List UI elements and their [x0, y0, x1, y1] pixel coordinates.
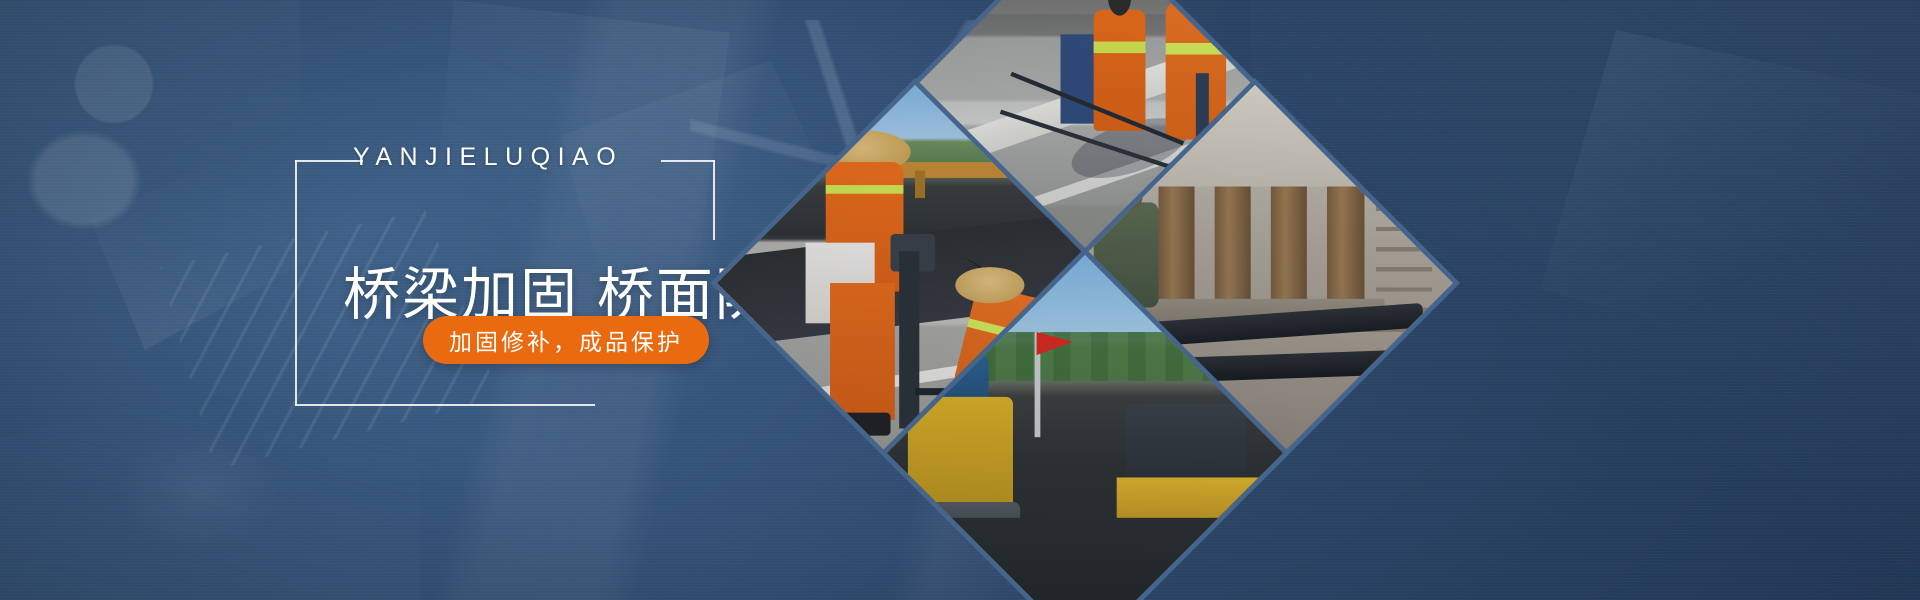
- brand-pinyin: YANJIELUQIAO: [353, 143, 623, 172]
- frame-right-border: [713, 160, 715, 240]
- frame-top-right-border: [661, 160, 715, 162]
- promo-banner: YANJIELUQIAO 桥梁加固 桥面防水 加固修补，成品保护: [0, 0, 1920, 600]
- cta-button[interactable]: 加固修补，成品保护: [423, 316, 709, 364]
- frame-bottom-border: [295, 404, 595, 406]
- photo-collage: [735, 0, 1375, 600]
- headline-block: YANJIELUQIAO 桥梁加固 桥面防水 加固修补，成品保护: [295, 128, 715, 406]
- frame-left-border: [295, 160, 297, 406]
